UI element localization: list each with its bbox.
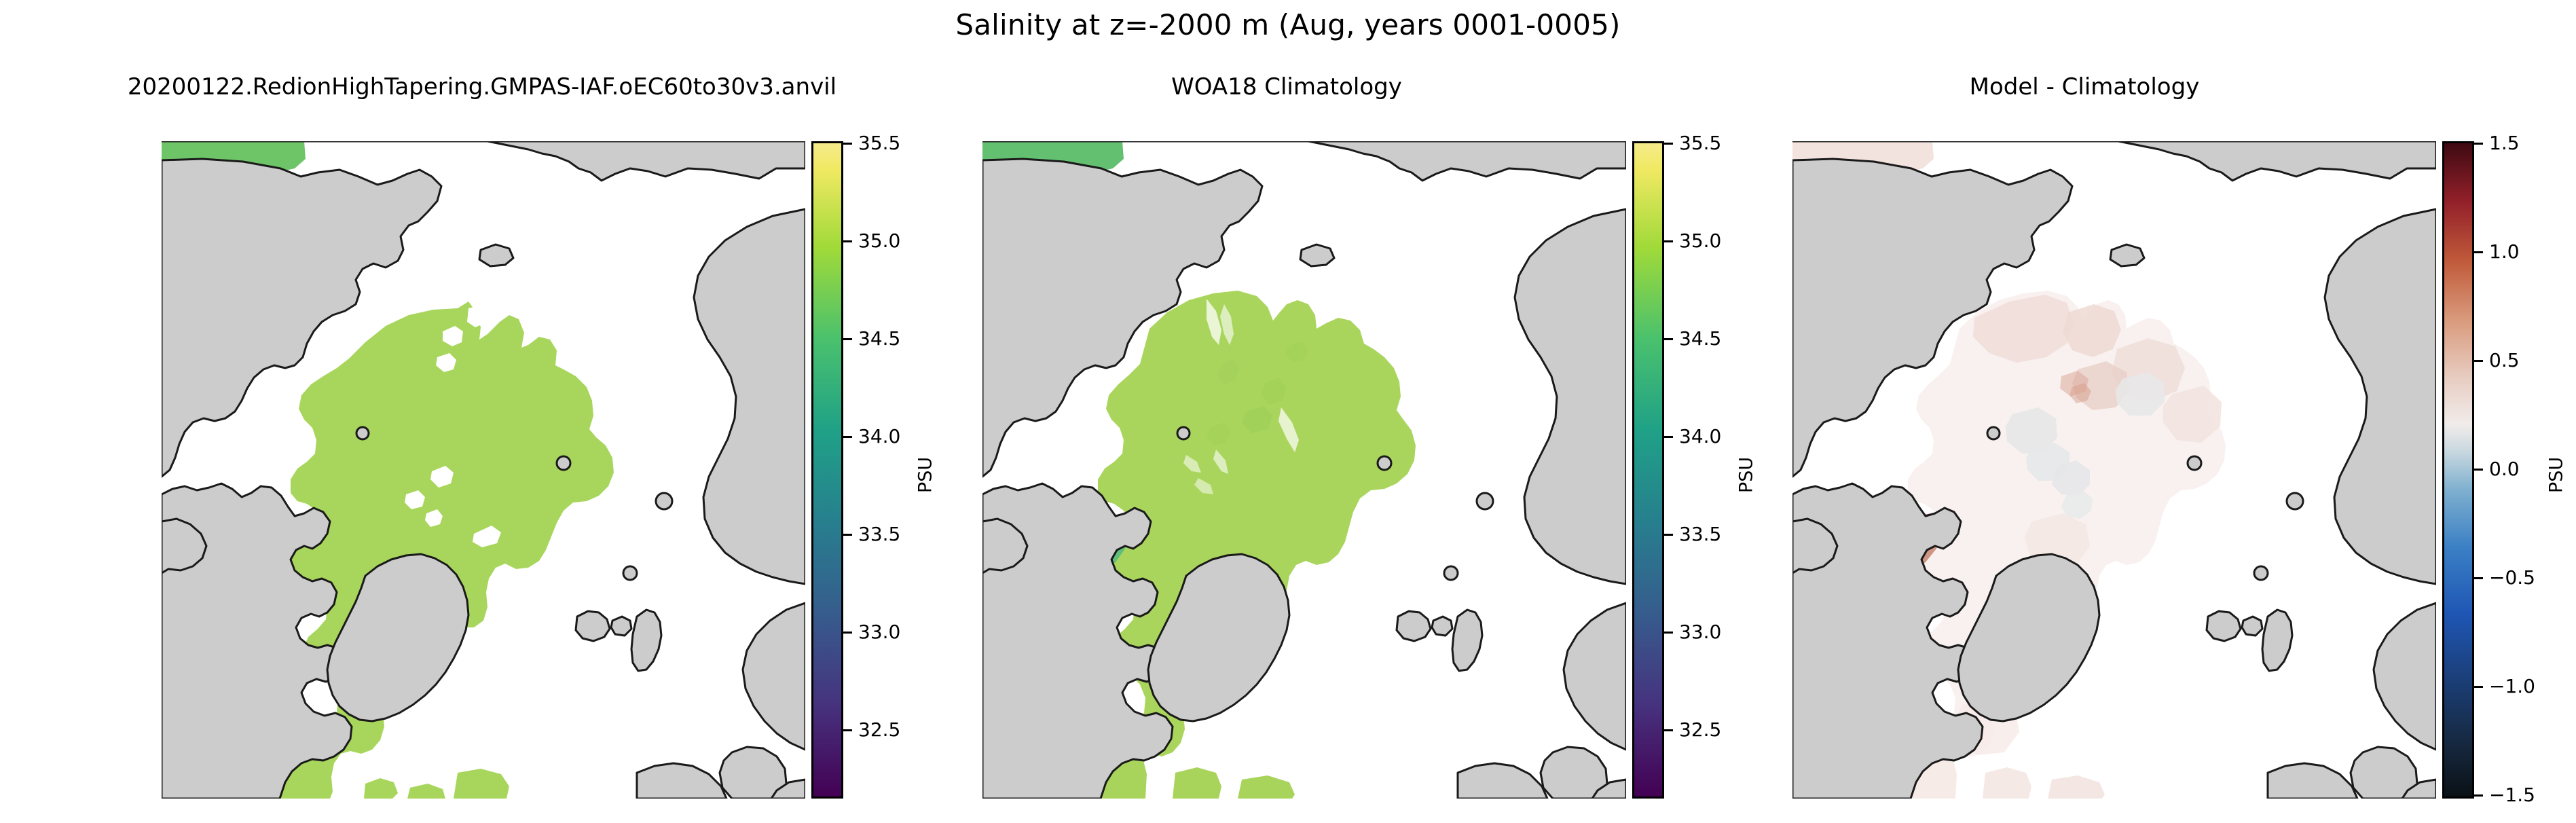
tick-mark bbox=[843, 729, 852, 731]
tick-label: 33.5 bbox=[858, 523, 900, 545]
tick-mark bbox=[1664, 436, 1673, 438]
tick-mark bbox=[2474, 577, 2483, 579]
map-panel-difference[interactable] bbox=[1792, 141, 2436, 799]
tick-mark bbox=[1664, 338, 1673, 340]
tick-mark bbox=[1664, 143, 1673, 145]
figure-title: Salinity at z=-2000 m (Aug, years 0001-0… bbox=[0, 8, 2576, 41]
tick-label: 0.0 bbox=[2489, 458, 2520, 480]
tick-mark bbox=[843, 240, 852, 242]
tick-mark bbox=[843, 632, 852, 634]
colorbar-gradient-model bbox=[811, 141, 843, 799]
tick-label: 1.5 bbox=[2489, 132, 2520, 154]
tick-label: 32.5 bbox=[1679, 718, 1721, 741]
tick-mark bbox=[2474, 686, 2483, 688]
tick-mark bbox=[2474, 794, 2483, 797]
tick-label: 32.5 bbox=[858, 718, 900, 741]
tick-label: −0.5 bbox=[2489, 566, 2535, 589]
tick-mark bbox=[1664, 240, 1673, 242]
tick-mark bbox=[843, 143, 852, 145]
tick-label: 35.5 bbox=[858, 132, 900, 154]
tick-mark bbox=[843, 436, 852, 438]
map-canvas-climatology bbox=[982, 141, 1626, 799]
colorbar-gradient-climatology bbox=[1632, 141, 1664, 799]
tick-label: 33.0 bbox=[1679, 621, 1721, 643]
tick-mark bbox=[1664, 632, 1673, 634]
tick-label: 0.5 bbox=[2489, 349, 2520, 371]
map-canvas-model bbox=[162, 141, 805, 799]
tick-label: 35.0 bbox=[1679, 230, 1721, 252]
map-panel-model[interactable] bbox=[162, 141, 805, 799]
colorbar-axis-label-difference: PSU bbox=[2546, 457, 2567, 493]
tick-label: 34.5 bbox=[1679, 327, 1721, 350]
tick-label: 1.0 bbox=[2489, 240, 2520, 263]
map-panel-climatology[interactable] bbox=[982, 141, 1626, 799]
colorbar-axis-label-model: PSU bbox=[915, 457, 936, 493]
colorbar-axis-label-climatology: PSU bbox=[1736, 457, 1757, 493]
tick-label: 35.0 bbox=[858, 230, 900, 252]
tick-label: 33.5 bbox=[1679, 523, 1721, 545]
tick-mark bbox=[1664, 729, 1673, 731]
tick-mark bbox=[2474, 469, 2483, 471]
tick-label: −1.0 bbox=[2489, 675, 2535, 697]
tick-label: 35.5 bbox=[1679, 132, 1721, 154]
tick-mark bbox=[2474, 143, 2483, 145]
tick-label: −1.5 bbox=[2489, 784, 2535, 806]
tick-mark bbox=[2474, 251, 2483, 253]
tick-label: 34.0 bbox=[1679, 425, 1721, 447]
tick-label: 33.0 bbox=[858, 621, 900, 643]
tick-label: 34.0 bbox=[858, 425, 900, 447]
tick-mark bbox=[843, 534, 852, 536]
map-canvas-difference bbox=[1792, 141, 2436, 799]
figure-canvas: Salinity at z=-2000 m (Aug, years 0001-0… bbox=[0, 0, 2576, 823]
tick-mark bbox=[843, 338, 852, 340]
panel-title-difference: Model - Climatology bbox=[1602, 73, 2566, 100]
colorbar-gradient-difference bbox=[2442, 141, 2474, 799]
tick-mark bbox=[1664, 534, 1673, 536]
tick-label: 34.5 bbox=[858, 327, 900, 350]
tick-mark bbox=[2474, 360, 2483, 362]
